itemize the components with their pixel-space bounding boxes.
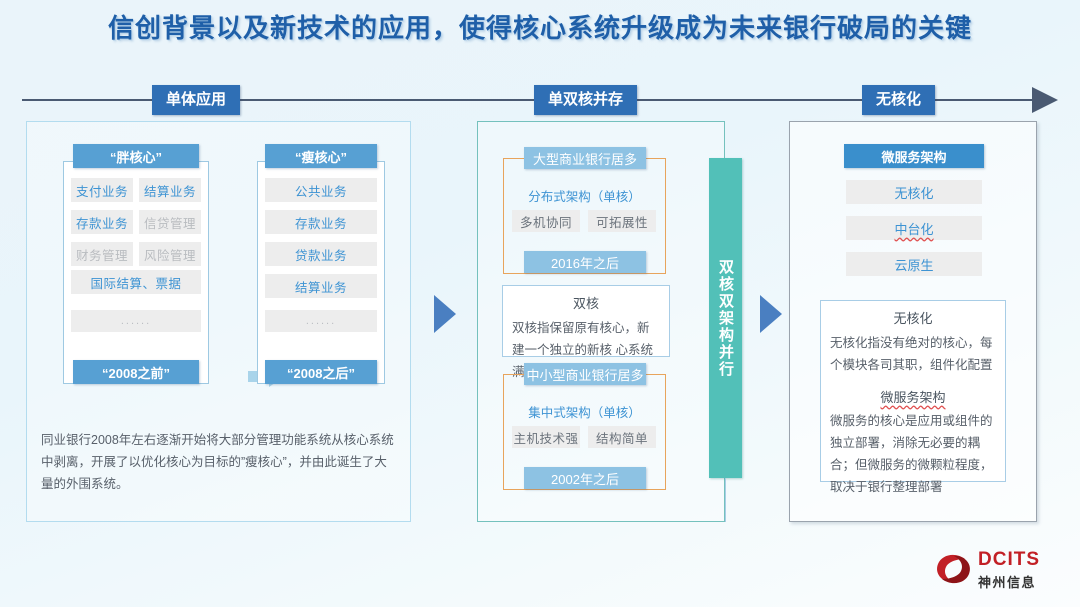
large-bank-tag: 可拓展性 [588,210,656,232]
midplatform-item-chip: 中台化 [846,216,982,240]
small-bank-tag: 主机技术强 [512,426,580,448]
logo-text-en: DCITS [978,549,1040,571]
logo-text-cn: 神州信息 [978,572,1040,591]
thin-core-cell: 结算业务 [265,274,377,298]
timeline-arrowhead-icon [1032,87,1058,113]
teal-bar-tail [725,478,726,522]
fat-core-cap-top: “胖核心” [73,144,199,168]
timeline-stage-3[interactable]: 无核化 [862,85,935,115]
dcits-swoosh-icon [934,551,974,589]
fat-core-cell: 财务管理 [71,242,133,266]
cloudnative-item-chip: 云原生 [846,252,982,276]
panel1-note: 同业银行2008年左右逐渐开始将大部分管理功能系统从核心系统中剥离，开展了以优化… [41,430,397,496]
thin-core-cell: 公共业务 [265,178,377,202]
microservice-head-chip: 微服务架构 [844,144,984,168]
dual-core-note: 双核 双核指保留原有核心，新建一个独立的新核 心系统满足新兴业务。 [502,285,670,357]
fat-core-cell: 结算业务 [139,178,201,202]
page-title: 信创背景以及新技术的应用，使得核心系统升级成为未来银行破局的关键 [0,8,1080,45]
thin-core-cap-bottom: “2008之后” [265,360,377,384]
dual-core-note-heading: 双核 [512,293,660,316]
small-bank-cap-bottom: 2002年之后 [524,467,646,489]
small-bank-subtitle: 集中式架构（单核） [503,402,666,421]
company-logo: DCITS 神州信息 [934,547,1062,593]
timeline: 单体应用 单双核并存 无核化 [22,85,1058,115]
panel3-note-heading-1: 无核化 [830,308,996,331]
fat-core-column: “胖核心” 支付业务 结算业务 存款业务 信贷管理 财务管理 风险管理 国际结算… [55,144,217,384]
slide-root: 信创背景以及新技术的应用，使得核心系统升级成为未来银行破局的关键 单体应用 单双… [0,0,1080,607]
thin-core-column: “瘦核心” 公共业务 存款业务 贷款业务 结算业务 ...... “2008之后… [251,144,391,384]
large-bank-subtitle: 分布式架构（单核） [503,186,666,205]
thin-core-ellipsis: ...... [265,310,377,332]
small-bank-tag: 结构简单 [588,426,656,448]
panel3-note-body-2: 微服务的核心是应用或组件的独立部署，消除无必要的耦合；但微服务的微颗粒程度，取决… [830,411,996,499]
fat-core-ellipsis: ...... [71,310,201,332]
fat-core-cell: 存款业务 [71,210,133,234]
panel3-note: 无核化 无核化指没有绝对的核心，每个模块各司其职，组件化配置 微服务架构 微服务… [820,300,1006,482]
step-arrow-1-icon [434,295,456,333]
large-bank-cap-bottom: 2016年之后 [524,251,646,273]
fat-core-cell: 风险管理 [139,242,201,266]
step-arrow-2-icon [760,295,782,333]
coreless-item-chip: 无核化 [846,180,982,204]
timeline-stage-1[interactable]: 单体应用 [152,85,240,115]
small-bank-cap-top: 中小型商业银行居多 [524,363,646,385]
midplatform-item-label: 中台化 [894,219,933,238]
timeline-stage-2[interactable]: 单双核并存 [534,85,637,115]
panel1-note-text: 同业银行2008年左右逐渐开始将大部分管理功能系统从核心系统中剥离，开展了以优化… [41,430,397,496]
thin-core-cap-top: “瘦核心” [265,144,377,168]
large-bank-tag: 多机协同 [512,210,580,232]
large-bank-cap-top: 大型商业银行居多 [524,147,646,169]
fat-core-cell: 信贷管理 [139,210,201,234]
fat-core-cap-bottom: “2008之前” [73,360,199,384]
panel3-note-body-1: 无核化指没有绝对的核心，每个模块各司其职，组件化配置 [830,333,996,377]
logo-text: DCITS 神州信息 [978,549,1040,591]
thin-core-cell: 贷款业务 [265,242,377,266]
fat-core-cell: 支付业务 [71,178,133,202]
panel-dual-core-coexistence: 大型商业银行居多 分布式架构（单核） 多机协同 可拓展性 2016年之后 双核 … [477,121,725,522]
thin-core-cell: 存款业务 [265,210,377,234]
panel3-note-heading-2: 微服务架构 [830,387,996,410]
dual-core-parallel-bar: 双核双架构并行 [709,158,742,478]
fat-core-cell-wide: 国际结算、票据 [71,270,201,294]
panel-monolithic-application: “胖核心” 支付业务 结算业务 存款业务 信贷管理 财务管理 风险管理 国际结算… [26,121,411,522]
panel-coreless: 微服务架构 无核化 中台化 云原生 无核化 无核化指没有绝对的核心，每个模块各司… [789,121,1037,522]
